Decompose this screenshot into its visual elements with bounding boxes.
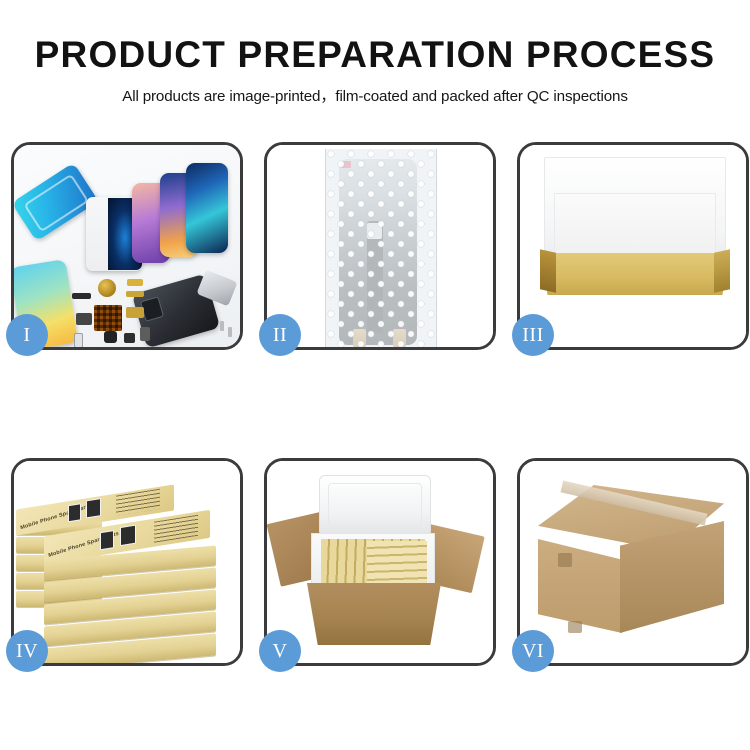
step-badge-1: I <box>6 314 48 356</box>
carton-mark-1 <box>558 553 572 567</box>
step-badge-3: III <box>512 314 554 356</box>
inner-kraft-boxes-secondary <box>367 541 427 583</box>
phones-and-parts-illustration <box>14 145 240 347</box>
box-print-screen-3 <box>100 530 114 550</box>
flex-cable-part-4 <box>126 307 144 318</box>
product-preparation-page: PRODUCT PREPARATION PROCESS All products… <box>0 0 750 750</box>
yellow-tray-base <box>540 253 730 295</box>
carton-front-panel <box>307 583 441 645</box>
step-badge-4: IV <box>6 630 48 672</box>
step-3-image <box>520 145 746 347</box>
process-step-1: I <box>11 142 243 350</box>
process-step-6: VI <box>517 458 749 666</box>
step-badge-2: II <box>259 314 301 356</box>
step-5-image <box>267 461 493 663</box>
box-print-text-block-2 <box>154 515 198 543</box>
process-step-3: III <box>517 142 749 350</box>
box-print-text-block-1 <box>116 489 160 516</box>
phone-display-blue <box>186 163 228 253</box>
packed-carton-illustration <box>267 461 493 663</box>
process-step-4: Mobile Phone Spare Parts Mobile Phone Sp… <box>11 458 243 666</box>
tray-corner-left <box>540 249 556 292</box>
step-badge-6: VI <box>512 630 554 672</box>
speaker-strip-part <box>72 293 91 299</box>
open-tray-box-illustration <box>520 145 746 347</box>
bubble-wrapped-screen-illustration <box>267 145 493 347</box>
step-badge-5: V <box>259 630 301 672</box>
screw-part-1 <box>220 321 224 331</box>
sealed-carton-illustration <box>520 461 746 663</box>
process-step-2: II <box>264 142 496 350</box>
flex-cable-part-1 <box>127 279 143 286</box>
sim-tray-part <box>74 333 83 347</box>
step-6-image <box>520 461 746 663</box>
speaker-module-part <box>124 333 135 343</box>
box-print-screen-1 <box>68 503 81 522</box>
stacked-boxes-illustration: Mobile Phone Spare Parts Mobile Phone Sp… <box>14 461 240 663</box>
connector-grid-part <box>94 305 122 331</box>
bubble-wrap-sleeve <box>325 149 437 347</box>
step-2-image <box>267 145 493 347</box>
process-step-5: V <box>264 458 496 666</box>
wireless-coil-part <box>98 279 116 297</box>
camera-module-part <box>104 331 117 343</box>
screw-part-2 <box>228 327 232 337</box>
process-step-grid: I II <box>11 142 739 666</box>
box-print-screen-2 <box>86 498 101 518</box>
carton-mark-2 <box>568 621 582 633</box>
step-1-image <box>14 145 240 347</box>
page-title: PRODUCT PREPARATION PROCESS <box>0 34 750 75</box>
tray-corner-right <box>714 249 730 292</box>
step-4-image: Mobile Phone Spare Parts Mobile Phone Sp… <box>14 461 240 663</box>
flex-cable-part-3 <box>76 313 92 325</box>
foam-lid <box>319 475 431 537</box>
page-subtitle: All products are image-printed，film-coat… <box>0 84 750 106</box>
flex-cable-part-2 <box>126 291 144 297</box>
box-print-screen-4 <box>120 525 136 547</box>
battery-connector-part <box>140 327 150 341</box>
page-header: PRODUCT PREPARATION PROCESS All products… <box>0 34 750 106</box>
